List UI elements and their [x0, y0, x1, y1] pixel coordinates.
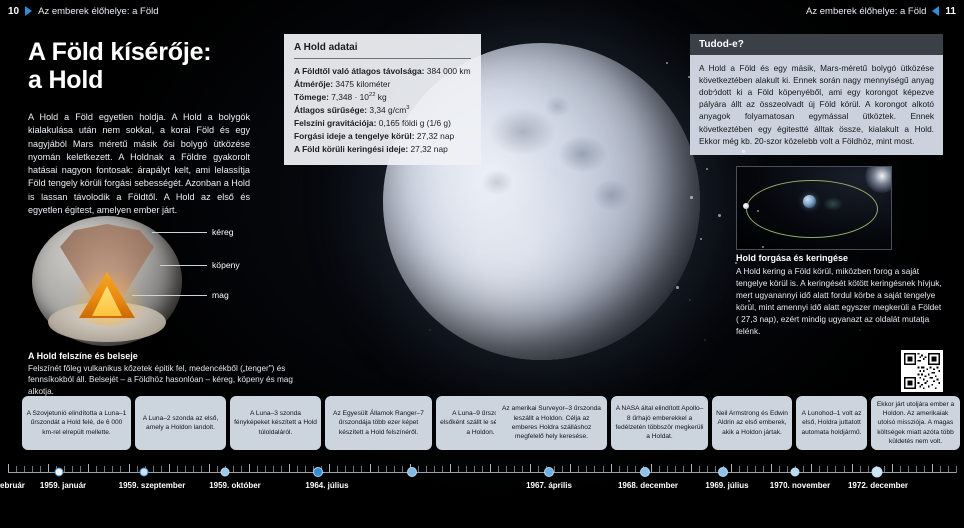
moon-cutaway-diagram [32, 216, 182, 346]
page-title-line2: a Hold [28, 66, 293, 94]
star-speck [718, 214, 721, 217]
header-left: 10 Az emberek élőhelye: a Föld [8, 0, 159, 22]
fact-row: Átlagos sűrűsége: 3,34 g/cm3 [294, 104, 471, 117]
did-you-know-body: A Hold a Föld és egy másik, Mars-méretű … [690, 55, 943, 155]
orbit-ellipse [746, 180, 878, 238]
timeline-dot[interactable] [140, 468, 149, 477]
timeline-date: 1970. november [770, 481, 830, 490]
timeline-card[interactable]: A Szovjetunió elindította a Luna–1 űrszo… [22, 396, 131, 450]
cutaway-caption-body: Felszínét főleg vulkanikus kőzetek épiti… [28, 363, 300, 397]
timeline-dot[interactable] [640, 467, 650, 477]
timeline-dot[interactable] [221, 468, 230, 477]
fact-row: Átmérője: 3475 kilométer [294, 78, 471, 91]
timeline-card[interactable]: Az Egyesült Államok Ranger–7 űrszondája … [325, 396, 432, 450]
rotation-text-block: Hold forgása és keringése A Hold kering … [736, 253, 943, 337]
timeline-dot[interactable] [407, 467, 417, 477]
timeline-card[interactable]: A Luna–3 szonda fényképeket készített a … [230, 396, 321, 450]
page-number-left: 10 [8, 6, 19, 17]
star-speck [762, 246, 764, 248]
earth-globe [803, 195, 816, 208]
fact-row: A Földtől való átlagos távolsága: 384 00… [294, 65, 471, 78]
did-you-know-title: Tudod-e? [690, 34, 943, 55]
timeline-date: 1959. október [209, 481, 261, 490]
star-speck [688, 76, 690, 78]
diagram-label-kopeny: köpeny [212, 260, 240, 270]
timeline-card[interactable]: Az amerikai Surveyor–3 űrszonda leszállt… [496, 396, 607, 450]
divider [294, 58, 471, 59]
timeline-date: 1959. szeptember [119, 481, 186, 490]
timeline-card[interactable]: A Lunohod–1 volt az első, Holdra juttato… [796, 396, 867, 450]
fact-row: A Föld körüli keringési ideje: 27,32 nap [294, 143, 471, 156]
timeline-axis [8, 472, 956, 473]
timeline-date: 1968. december [618, 481, 678, 490]
page-title: A Föld kísérője: a Hold [28, 38, 293, 95]
star-speck [742, 150, 745, 153]
star-speck [676, 286, 679, 289]
timeline-date: 1969. július [705, 481, 748, 490]
fact-row: Tömege: 7,348 · 1022 kg [294, 91, 471, 104]
timeline-date: 1972. december [848, 481, 908, 490]
diagram-label-mag: mag [212, 290, 229, 300]
header-title-right: Az emberek élőhelye: a Föld [806, 6, 926, 17]
rotation-body: A Hold kering a Föld körül, miközben for… [736, 265, 943, 337]
moon-facts-box: A Hold adatai A Földtől való átlagos táv… [284, 34, 481, 165]
moon-marker [743, 203, 749, 209]
leader-line-mag [132, 295, 207, 296]
timeline-date: 1964. július [305, 481, 348, 490]
timeline-dot[interactable] [791, 468, 800, 477]
cutaway-caption-title: A Hold felszíne és belseje [28, 351, 300, 361]
timeline-date: 1959. január [40, 481, 86, 490]
star-speck [690, 196, 693, 199]
fact-row: Felszíni gravitációja: 0,165 földi g (1/… [294, 117, 471, 130]
nebula-haze [823, 197, 843, 211]
triangle-left-icon[interactable] [932, 6, 939, 16]
rotation-title: Hold forgása és keringése [736, 253, 943, 263]
page-number-right: 11 [945, 6, 956, 17]
page-title-line1: A Föld kísérője: [28, 38, 293, 66]
triangle-right-icon[interactable] [25, 6, 32, 16]
header-title-left: Az emberek élőhelye: a Föld [38, 6, 158, 17]
timeline-card[interactable]: A NASA által elindított Apollo–8 űrhajó … [611, 396, 708, 450]
sun-glow [865, 166, 892, 193]
timeline-dot[interactable] [55, 468, 64, 477]
timeline-dot[interactable] [872, 467, 883, 478]
axis-tick [956, 466, 957, 473]
moon-orbit-diagram [736, 166, 892, 250]
qr-code[interactable] [901, 350, 943, 392]
lead-paragraph: A Hold a Föld egyetlen holdja. A Hold a … [28, 111, 250, 217]
fact-row: Forgási ideje a tengelye körül: 27,32 na… [294, 130, 471, 143]
timeline-dot[interactable] [718, 467, 728, 477]
timeline-date: 1966. február [0, 481, 25, 490]
header-right: Az emberek élőhelye: a Föld 11 [806, 0, 956, 22]
timeline-card[interactable]: Ekkor járt utoljára ember a Holdon. Az a… [871, 396, 960, 450]
timeline-card[interactable]: Neil Armstrong és Edwin Aldrin az első e… [712, 396, 792, 450]
moon-facts-title: A Hold adatai [294, 42, 471, 53]
timeline-cards: A Szovjetunió elindította a Luna–1 űrszo… [0, 396, 964, 452]
leader-line-kereg [152, 232, 207, 233]
did-you-know-box: Tudod-e? A Hold a Föld és egy másik, Mar… [690, 34, 943, 155]
timeline-card[interactable]: A Luna–2 szonda az első, amely a Holdon … [135, 396, 226, 450]
timeline-date: 1967. április [526, 481, 572, 490]
textbook-spread: 10 Az emberek élőhelye: a Föld Az embere… [0, 0, 964, 528]
timeline-dot[interactable] [313, 467, 323, 477]
leader-line-kopeny [160, 265, 207, 266]
diagram-label-kereg: kéreg [212, 227, 234, 237]
timeline-dot[interactable] [544, 467, 554, 477]
cutaway-caption: A Hold felszíne és belseje Felszínét fől… [28, 351, 300, 397]
